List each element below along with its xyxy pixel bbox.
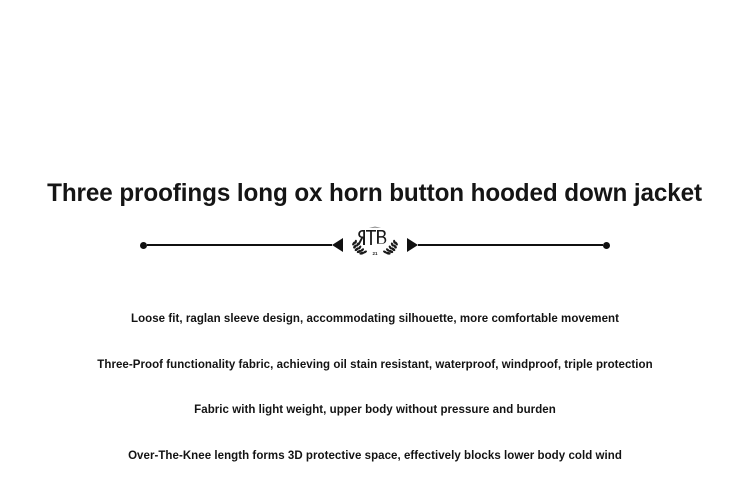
- ornamental-divider: 21: [0, 228, 750, 262]
- dot-marker-icon: [140, 242, 147, 249]
- feature-item: Loose fit, raglan sleeve design, accommo…: [0, 312, 750, 358]
- feature-item: Fabric with light weight, upper body wit…: [0, 403, 750, 449]
- crest-year-text: 21: [372, 251, 378, 256]
- dot-marker-icon: [603, 242, 610, 249]
- product-description-page: Three proofings long ox horn button hood…: [0, 0, 750, 485]
- divider-rule-right: [418, 244, 603, 246]
- triangle-right-icon: [407, 238, 418, 252]
- page-title: Three proofings long ox horn button hood…: [48, 177, 703, 209]
- triangle-left-icon: [332, 238, 343, 252]
- divider-inner: 21: [140, 228, 610, 262]
- feature-item: Three-Proof functionality fabric, achiev…: [0, 358, 750, 404]
- feature-item: Over-The-Knee length forms 3D protective…: [0, 449, 750, 494]
- page-title-container: Three proofings long ox horn button hood…: [0, 160, 750, 226]
- divider-rule-left: [147, 244, 332, 246]
- feature-list: Loose fit, raglan sleeve design, accommo…: [0, 312, 750, 494]
- laurel-wreath-monogram-icon: 21: [347, 225, 403, 259]
